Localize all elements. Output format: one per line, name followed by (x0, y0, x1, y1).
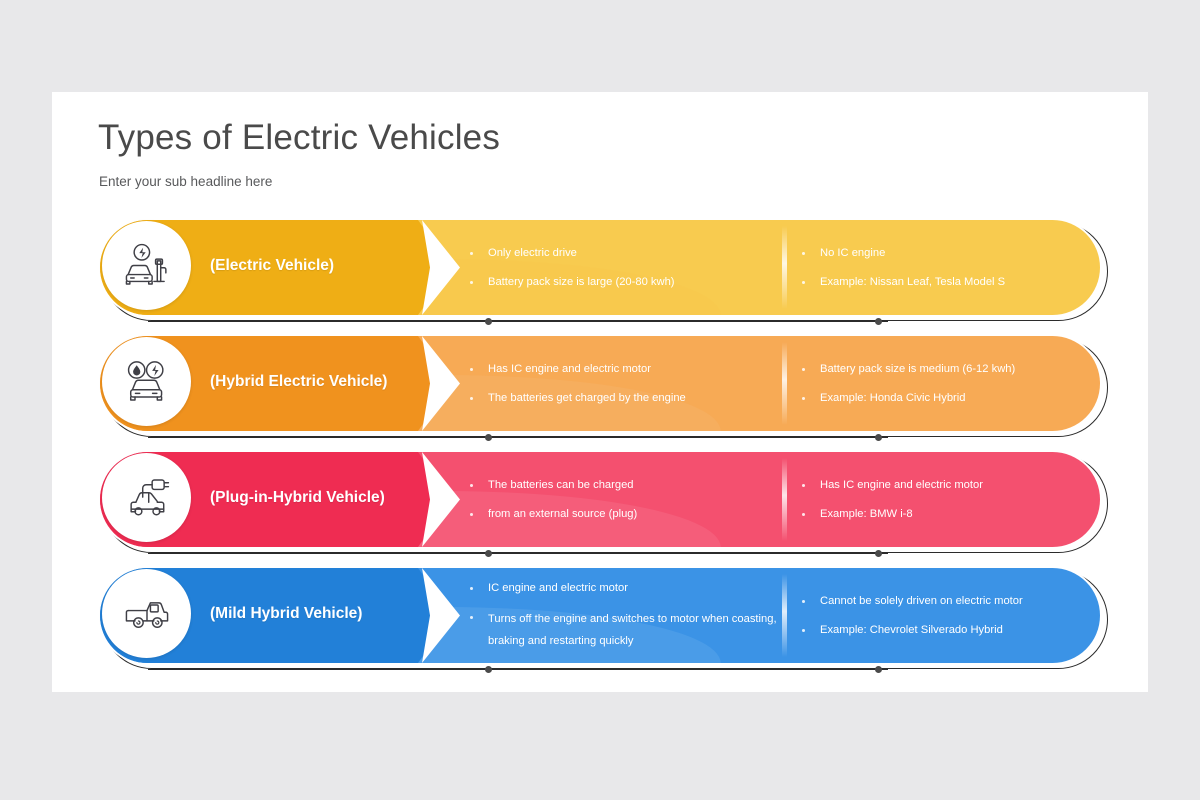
plugin-car-plug-icon (102, 453, 191, 542)
list-item: The batteries get charged by the engine (464, 389, 782, 408)
column-divider (782, 226, 787, 309)
connector-line (148, 669, 888, 670)
ev-types-list: Only electric drive Battery pack size is… (52, 92, 1148, 692)
list-item: Example: Chevrolet Silverado Hybrid (796, 621, 1096, 640)
row-connector (148, 667, 888, 673)
connector-dot (485, 318, 492, 325)
slide-canvas: Types of Electric Vehicles Enter your su… (52, 92, 1148, 692)
connector-line (148, 321, 888, 322)
hybrid-car-fuel-bolt-icon (102, 337, 191, 426)
ev-type-row-electric-vehicle[interactable]: Only electric drive Battery pack size is… (98, 218, 1108, 321)
row-label: (Hybrid Electric Vehicle) (210, 334, 387, 429)
ev-type-row-hybrid-electric-vehicle[interactable]: Has IC engine and electric motor The bat… (98, 334, 1108, 437)
ev-car-charging-icon (102, 221, 191, 310)
column-divider (782, 342, 787, 425)
connector-dot (875, 318, 882, 325)
row-connector (148, 551, 888, 557)
column-divider (782, 458, 787, 541)
list-item: Example: BMW i-8 (796, 505, 1096, 524)
row-label: (Electric Vehicle) (210, 218, 334, 313)
row-bullet-columns: Has IC engine and electric motor The bat… (452, 336, 1100, 431)
ev-type-row-plug-in-hybrid-vehicle[interactable]: The batteries can be charged from an ext… (98, 450, 1108, 553)
connector-dot (875, 550, 882, 557)
list-item: Battery pack size is large (20-80 kwh) (464, 273, 782, 292)
row-bullet-columns: IC engine and electric motor Turns off t… (452, 568, 1100, 663)
bullet-column-left: The batteries can be charged from an ext… (464, 452, 782, 547)
pickup-truck-icon (102, 569, 191, 658)
connector-dot (875, 434, 882, 441)
row-bullet-columns: Only electric drive Battery pack size is… (452, 220, 1100, 315)
row-connector (148, 435, 888, 441)
connector-dot (875, 666, 882, 673)
list-item: Turns off the engine and switches to mot… (464, 608, 782, 652)
list-item: from an external source (plug) (464, 505, 782, 524)
list-item: Only electric drive (464, 244, 782, 263)
list-item: Cannot be solely driven on electric moto… (796, 592, 1096, 611)
list-item: Example: Honda Civic Hybrid (796, 389, 1096, 408)
bullet-column-right: No IC engine Example: Nissan Leaf, Tesla… (796, 220, 1096, 315)
row-label: (Mild Hybrid Vehicle) (210, 566, 362, 661)
ev-type-row-mild-hybrid-vehicle[interactable]: IC engine and electric motor Turns off t… (98, 566, 1108, 669)
row-label: (Plug-in-Hybrid Vehicle) (210, 450, 385, 545)
row-bullet-columns: The batteries can be charged from an ext… (452, 452, 1100, 547)
connector-line (148, 553, 888, 554)
connector-dot (485, 550, 492, 557)
bullet-column-left: IC engine and electric motor Turns off t… (464, 568, 782, 663)
column-divider (782, 574, 787, 657)
row-connector (148, 319, 888, 325)
list-item: Has IC engine and electric motor (796, 476, 1096, 495)
bullet-column-left: Only electric drive Battery pack size is… (464, 220, 782, 315)
list-item: Battery pack size is medium (6-12 kwh) (796, 360, 1096, 379)
bullet-column-left: Has IC engine and electric motor The bat… (464, 336, 782, 431)
list-item: IC engine and electric motor (464, 579, 782, 598)
bullet-column-right: Has IC engine and electric motor Example… (796, 452, 1096, 547)
list-item: No IC engine (796, 244, 1096, 263)
list-item: Has IC engine and electric motor (464, 360, 782, 379)
list-item: Example: Nissan Leaf, Tesla Model S (796, 273, 1096, 292)
connector-dot (485, 666, 492, 673)
bullet-column-right: Battery pack size is medium (6-12 kwh) E… (796, 336, 1096, 431)
bullet-column-right: Cannot be solely driven on electric moto… (796, 568, 1096, 663)
list-item: The batteries can be charged (464, 476, 782, 495)
connector-line (148, 437, 888, 438)
connector-dot (485, 434, 492, 441)
